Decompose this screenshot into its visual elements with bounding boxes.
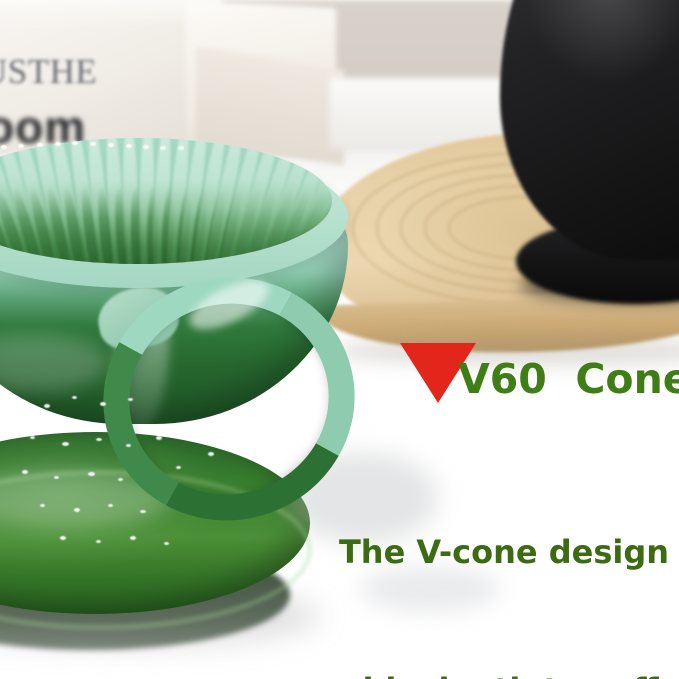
glaze-specular-dot [118, 478, 123, 481]
rim-specular-dot [90, 142, 96, 146]
rim-specular-dot [108, 143, 114, 147]
glaze-specular-dot [54, 476, 59, 479]
glaze-specular-dot [96, 438, 102, 441]
glaze-specular-dot [128, 398, 133, 401]
glaze-specular-dot [100, 402, 106, 406]
overlay-body-line: The V-cone design [329, 529, 679, 575]
dripper-ribbed-interior [0, 138, 332, 264]
glaze-specular-dot [188, 430, 193, 433]
glaze-specular-dot [72, 396, 77, 399]
glaze-specular-dot [74, 508, 80, 512]
rim-specular-dot [55, 142, 61, 146]
glaze-specular-dot [164, 542, 169, 545]
glaze-specular-dot [108, 504, 113, 507]
glaze-specular-dot [96, 540, 101, 543]
glaze-specular-dot [22, 470, 28, 474]
glaze-specular-dot [140, 510, 146, 513]
overlay-heading: V60 Cone [458, 355, 679, 403]
rim-specular-dot [18, 144, 24, 148]
glaze-specular-dot [60, 536, 66, 540]
rim-specular-dot [143, 145, 149, 149]
background-book-text-primary: USTHE [0, 52, 97, 92]
glaze-specular-dot [208, 452, 214, 456]
glaze-specular-dot [130, 536, 136, 540]
rim-specular-dot [72, 141, 78, 145]
overlay-heading-row: V60 Cone [400, 341, 679, 403]
rim-specular-dot [160, 146, 166, 150]
glaze-specular-dot [44, 404, 50, 408]
rim-specular-dot [1, 145, 7, 149]
glaze-specular-dot [16, 398, 21, 401]
product-image-canvas: USTHE oom V60 Cone The V-cone design add… [0, 0, 679, 679]
ceramic-dripper [0, 138, 348, 438]
overlay-body-line: adds depth to coffee [329, 667, 679, 679]
glaze-specular-dot [126, 444, 131, 447]
overlay-body-text: The V-cone design adds depth to coffee l… [329, 437, 679, 679]
glaze-specular-dot [88, 472, 95, 476]
glaze-specular-dot [62, 442, 69, 446]
rim-specular-dot [37, 143, 43, 147]
rim-specular-dot [126, 144, 132, 148]
glaze-specular-dot [156, 436, 162, 440]
glaze-specular-dot [40, 504, 45, 507]
glaze-specular-dot [176, 466, 181, 469]
glaze-specular-dot [30, 436, 35, 439]
